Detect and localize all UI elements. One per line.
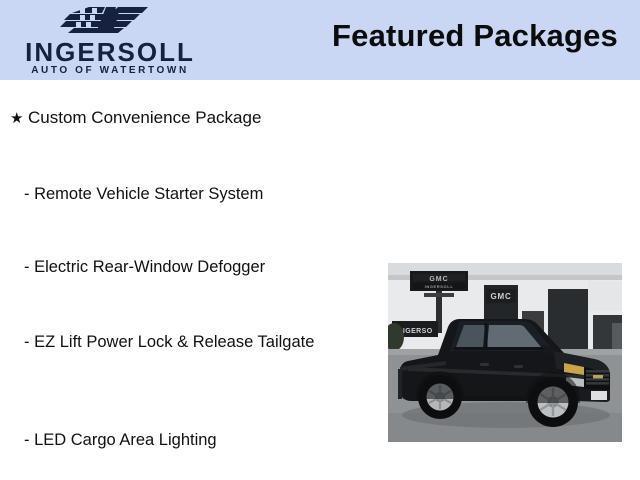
svg-text:GMC: GMC [490,292,511,301]
list-item: - EZ Lift Power Lock & Release Tailgate [24,330,334,354]
svg-text:INGERSOLL: INGERSOLL [425,284,454,289]
package-title-row: ★Custom Convenience Package [10,107,350,130]
dealer-wordmark: INGERSOLL [12,38,208,66]
ingersoll-wing-emblem-icon [56,5,156,35]
star-bullet-icon: ★ [10,108,28,130]
slide-root: INGERSOLL AUTO OF WATERTOWN Featured Pac… [0,0,640,480]
package-title: Custom Convenience Package [28,108,261,127]
dealer-tagline: AUTO OF WATERTOWN [12,65,208,77]
vehicle-photo[interactable]: GMC INGERSOLL GMC INGERSO [388,263,622,442]
svg-text:GMC: GMC [429,276,448,283]
slide-header: INGERSOLL AUTO OF WATERTOWN Featured Pac… [0,0,640,80]
list-item: - LED Cargo Area Lighting [24,428,334,452]
page-title: Featured Packages [332,18,618,54]
slide-body: ★Custom Convenience Package - Remote Veh… [0,80,640,480]
list-item: - Remote Vehicle Starter System [24,182,334,206]
list-item: - Electric Rear-Window Defogger [24,255,334,279]
dealer-logo[interactable]: INGERSOLL AUTO OF WATERTOWN [8,2,208,78]
